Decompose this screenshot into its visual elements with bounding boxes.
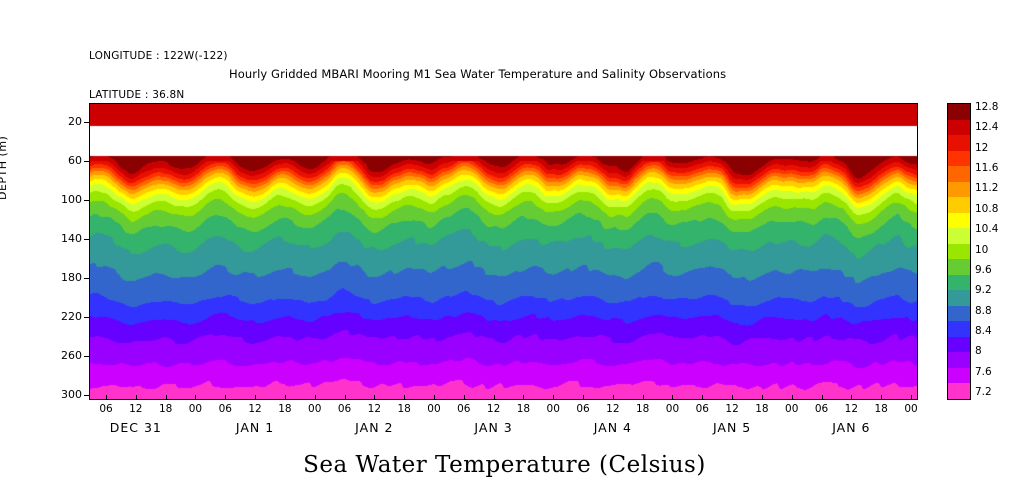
- colorbar-segment: [948, 368, 970, 384]
- colorbar-tick-label: 9.2: [975, 284, 992, 296]
- x-tick-label: 12: [839, 403, 863, 415]
- y-tick-label: 260: [42, 349, 82, 362]
- colorbar-tick-label: 12: [975, 142, 988, 154]
- x-tick-mark: [911, 395, 912, 400]
- plot-area: [89, 103, 918, 400]
- x-day-label: JAN 6: [806, 420, 896, 435]
- x-tick-mark: [225, 395, 226, 400]
- colorbar-tick-label: 11.2: [975, 182, 998, 194]
- x-tick-mark: [553, 395, 554, 400]
- x-tick-label: 06: [94, 403, 118, 415]
- x-tick-mark: [851, 395, 852, 400]
- y-axis-label: DEPTH (m): [0, 136, 9, 200]
- x-tick-label: 06: [810, 403, 834, 415]
- x-day-label: JAN 3: [449, 420, 539, 435]
- x-tick-mark: [315, 395, 316, 400]
- x-tick-label: 00: [541, 403, 565, 415]
- y-tick-mark: [84, 161, 89, 162]
- colorbar-segment: [948, 352, 970, 368]
- x-tick-label: 00: [660, 403, 684, 415]
- x-tick-label: 18: [511, 403, 535, 415]
- y-tick-label: 100: [42, 193, 82, 206]
- x-tick-label: 00: [303, 403, 327, 415]
- x-tick-mark: [166, 395, 167, 400]
- x-tick-label: 06: [690, 403, 714, 415]
- x-tick-mark: [374, 395, 375, 400]
- x-tick-mark: [822, 395, 823, 400]
- colorbar-segment: [948, 321, 970, 337]
- x-day-label: JAN 4: [568, 420, 658, 435]
- x-tick-mark: [345, 395, 346, 400]
- y-tick-label: 140: [42, 232, 82, 245]
- latitude-text: LATITUDE : 36.8N: [89, 89, 228, 102]
- x-tick-label: 06: [452, 403, 476, 415]
- colorbar-tick-label: 8: [975, 345, 982, 357]
- colorbar-segment: [948, 306, 970, 322]
- y-tick-mark: [84, 122, 89, 123]
- colorbar-segment: [948, 135, 970, 151]
- bottom-title: Sea Water Temperature (Celsius): [0, 452, 1009, 478]
- colorbar-segment: [948, 120, 970, 136]
- x-tick-mark: [523, 395, 524, 400]
- y-tick-label: 180: [42, 271, 82, 284]
- x-day-label: DEC 31: [91, 420, 181, 435]
- x-tick-label: 00: [422, 403, 446, 415]
- colorbar-segment: [948, 151, 970, 167]
- x-tick-mark: [464, 395, 465, 400]
- x-tick-mark: [702, 395, 703, 400]
- y-tick-label: 20: [42, 115, 82, 128]
- x-tick-label: 12: [482, 403, 506, 415]
- x-tick-label: 18: [154, 403, 178, 415]
- colorbar: [947, 103, 971, 400]
- colorbar-tick-label: 8.4: [975, 325, 992, 337]
- x-tick-label: 00: [183, 403, 207, 415]
- colorbar-tick-label: 12.8: [975, 101, 998, 113]
- chart-title: Hourly Gridded MBARI Mooring M1 Sea Wate…: [229, 67, 726, 81]
- x-tick-mark: [285, 395, 286, 400]
- y-tick-mark: [84, 200, 89, 201]
- x-tick-mark: [583, 395, 584, 400]
- colorbar-segment: [948, 259, 970, 275]
- colorbar-segment: [948, 104, 970, 120]
- x-tick-label: 12: [243, 403, 267, 415]
- y-tick-label: 60: [42, 154, 82, 167]
- y-tick-label: 220: [42, 310, 82, 323]
- colorbar-tick-label: 10.4: [975, 223, 998, 235]
- colorbar-tick-label: 11.6: [975, 162, 998, 174]
- colorbar-tick-label: 7.2: [975, 386, 992, 398]
- x-tick-mark: [881, 395, 882, 400]
- x-tick-mark: [136, 395, 137, 400]
- x-tick-label: 18: [631, 403, 655, 415]
- x-tick-label: 12: [362, 403, 386, 415]
- longitude-text: LONGITUDE : 122W(-122): [89, 50, 228, 63]
- x-tick-mark: [494, 395, 495, 400]
- x-tick-mark: [255, 395, 256, 400]
- colorbar-segment: [948, 213, 970, 229]
- x-tick-mark: [434, 395, 435, 400]
- x-tick-label: 12: [124, 403, 148, 415]
- colorbar-segment: [948, 275, 970, 291]
- x-day-label: JAN 1: [210, 420, 300, 435]
- y-tick-mark: [84, 278, 89, 279]
- colorbar-segment: [948, 166, 970, 182]
- colorbar-segment: [948, 337, 970, 353]
- temperature-heatmap: [90, 104, 917, 399]
- x-tick-label: 12: [720, 403, 744, 415]
- colorbar-tick-label: 9.6: [975, 264, 992, 276]
- x-tick-mark: [195, 395, 196, 400]
- colorbar-segment: [948, 182, 970, 198]
- x-tick-mark: [762, 395, 763, 400]
- x-tick-label: 00: [780, 403, 804, 415]
- x-tick-label: 00: [899, 403, 923, 415]
- colorbar-segment: [948, 228, 970, 244]
- x-tick-label: 18: [273, 403, 297, 415]
- x-tick-mark: [404, 395, 405, 400]
- x-tick-mark: [106, 395, 107, 400]
- x-tick-label: 18: [869, 403, 893, 415]
- colorbar-tick-label: 7.6: [975, 366, 992, 378]
- x-tick-label: 18: [750, 403, 774, 415]
- colorbar-tick-label: 12.4: [975, 121, 998, 133]
- y-tick-label: 300: [42, 388, 82, 401]
- y-tick-mark: [84, 239, 89, 240]
- colorbar-tick-label: 8.8: [975, 305, 992, 317]
- colorbar-tick-label: 10.8: [975, 203, 998, 215]
- colorbar-segment: [948, 244, 970, 260]
- x-tick-mark: [732, 395, 733, 400]
- y-tick-mark: [84, 317, 89, 318]
- x-tick-mark: [792, 395, 793, 400]
- colorbar-segment: [948, 197, 970, 213]
- x-day-label: JAN 5: [687, 420, 777, 435]
- colorbar-segment: [948, 383, 970, 399]
- x-tick-label: 06: [213, 403, 237, 415]
- colorbar-segment: [948, 290, 970, 306]
- x-tick-label: 06: [333, 403, 357, 415]
- x-tick-mark: [672, 395, 673, 400]
- x-tick-label: 12: [601, 403, 625, 415]
- x-tick-mark: [613, 395, 614, 400]
- x-tick-label: 18: [392, 403, 416, 415]
- y-tick-mark: [84, 356, 89, 357]
- colorbar-tick-label: 10: [975, 244, 988, 256]
- x-tick-label: 06: [571, 403, 595, 415]
- y-tick-mark: [84, 395, 89, 396]
- x-day-label: JAN 2: [329, 420, 419, 435]
- x-tick-mark: [643, 395, 644, 400]
